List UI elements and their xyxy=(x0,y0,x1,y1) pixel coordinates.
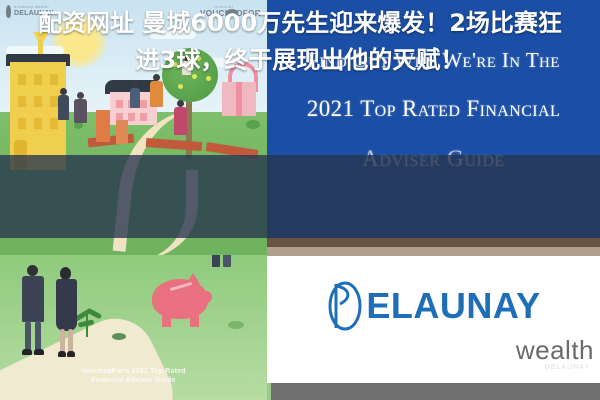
window xyxy=(140,100,147,108)
rock xyxy=(112,333,126,340)
window xyxy=(18,96,26,107)
window xyxy=(18,118,26,129)
piggy-bank-scene-illustration: VouchedFor's 2021 Top Rated Financial Ad… xyxy=(0,255,267,400)
window xyxy=(140,113,147,121)
piggy-snout xyxy=(198,291,212,303)
bush xyxy=(246,120,260,129)
bush xyxy=(74,122,83,129)
leaf-dot xyxy=(178,84,183,89)
headline-overlay-band xyxy=(0,155,600,238)
window xyxy=(34,96,42,107)
window xyxy=(116,100,123,108)
promo-line-2: 2021 Top Rated Financial xyxy=(267,96,600,122)
article-headline: 配资网址 曼城6000万先生迎来爆发！2场比赛狂 进3球，终于展现出他的天赋！ xyxy=(0,0,600,83)
piggy-leg xyxy=(162,313,171,327)
window xyxy=(34,118,42,129)
screenshot-root: VouchedFor's 2021 Top Rated Financial Ad… xyxy=(0,0,600,400)
brand-tagline: wealth xyxy=(267,335,600,366)
fence-post xyxy=(96,110,110,142)
caption-line-2: Financial Adviser Guide xyxy=(0,376,267,385)
brand-logo-row: ELAUNAY xyxy=(326,280,540,332)
faint-caption: DELAUNAY xyxy=(545,364,590,371)
caption-line-1: VouchedFor's 2021 Top Rated xyxy=(0,367,267,376)
plant-leaf xyxy=(86,308,102,320)
fence-post xyxy=(116,120,128,144)
tan-divider-band xyxy=(267,247,600,256)
brand-name: ELAUNAY xyxy=(366,288,540,324)
brand-logo-panel: ELAUNAY wealth DELAUNAY xyxy=(267,256,600,383)
delaunay-d-monogram-icon xyxy=(326,280,364,332)
headline-line-2: 进3球，终于展现出他的天赋！ xyxy=(136,42,465,79)
window xyxy=(128,113,135,121)
rock xyxy=(228,321,244,329)
footer-left-edge xyxy=(267,383,271,400)
gift-ribbon xyxy=(236,82,242,116)
brown-divider-band xyxy=(267,238,600,247)
headline-line-1: 配资网址 曼城6000万先生迎来爆发！2场比赛狂 xyxy=(38,5,562,42)
window xyxy=(50,118,58,129)
illustration-caption: VouchedFor's 2021 Top Rated Financial Ad… xyxy=(0,367,267,385)
footer-bar xyxy=(267,383,600,400)
piggy-leg xyxy=(190,313,199,327)
plant-stem xyxy=(86,315,88,337)
window xyxy=(50,96,58,107)
brand-logo: ELAUNAY wealth xyxy=(267,280,600,366)
